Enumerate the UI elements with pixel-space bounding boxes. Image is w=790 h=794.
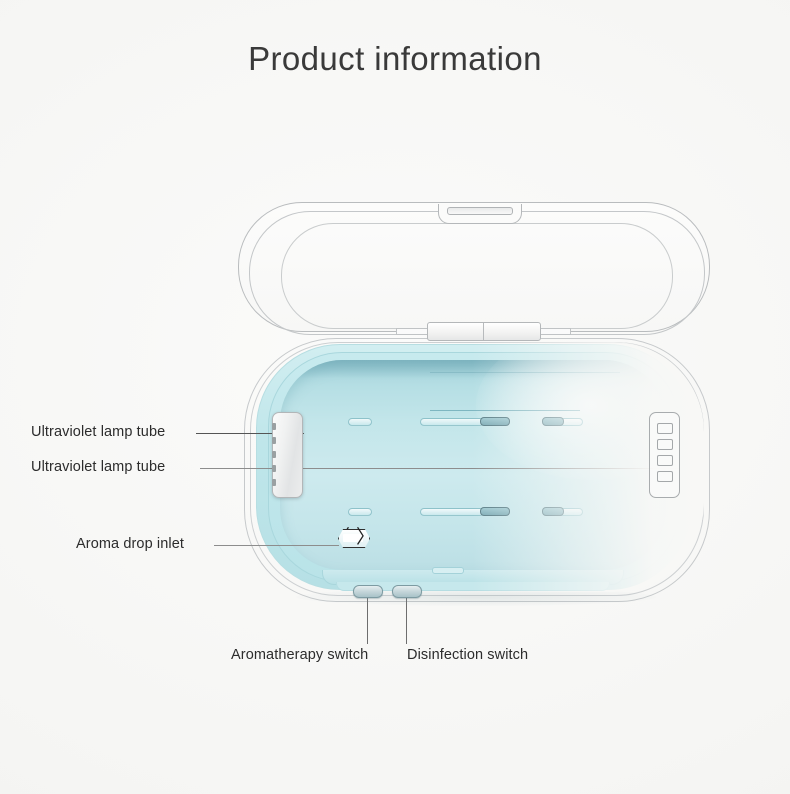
left-lamp-tube (272, 412, 303, 498)
cavity-slot-detail (480, 417, 510, 426)
cavity-detail-line (430, 410, 580, 411)
cavity-edge-line (430, 372, 620, 373)
label-ultraviolet-lamp-tube-right: Ultraviolet lamp tube (31, 459, 165, 475)
aroma-inlet: 〈 〉 (331, 526, 375, 550)
hinge-divider (483, 323, 484, 340)
cavity-slot-detail (348, 418, 372, 426)
lid-handle-bar (447, 207, 513, 215)
switch-right[interactable] (392, 585, 422, 598)
right-lamp-tube (649, 412, 680, 498)
cavity-slot-detail (348, 508, 372, 516)
switch-left[interactable] (353, 585, 383, 598)
lid-hinge (427, 322, 541, 341)
leader-line-aroma-inlet (214, 545, 339, 546)
cavity-slot-detail (420, 508, 484, 516)
product-information-diagram: Product information (0, 0, 790, 794)
cavity-slot-detail (542, 417, 564, 426)
label-aroma-drop-inlet: Aroma drop inlet (76, 536, 184, 552)
hinge-arm-left (396, 328, 431, 335)
aroma-bracket-right-icon: 〉 (356, 528, 375, 547)
label-aromatherapy-switch: Aromatherapy switch (231, 647, 368, 663)
cavity-slot-detail (420, 418, 484, 426)
lid-outer-shell (238, 202, 710, 332)
page-title: Product information (0, 40, 790, 78)
body-lip-tab (432, 567, 464, 574)
lid-inner-ring (281, 223, 673, 329)
cavity-slot-detail (542, 507, 564, 516)
hinge-arm-right (536, 328, 571, 335)
label-ultraviolet-lamp-tube-left: Ultraviolet lamp tube (31, 424, 165, 440)
label-disinfection-switch: Disinfection switch (407, 647, 528, 663)
cavity-slot-detail (480, 507, 510, 516)
